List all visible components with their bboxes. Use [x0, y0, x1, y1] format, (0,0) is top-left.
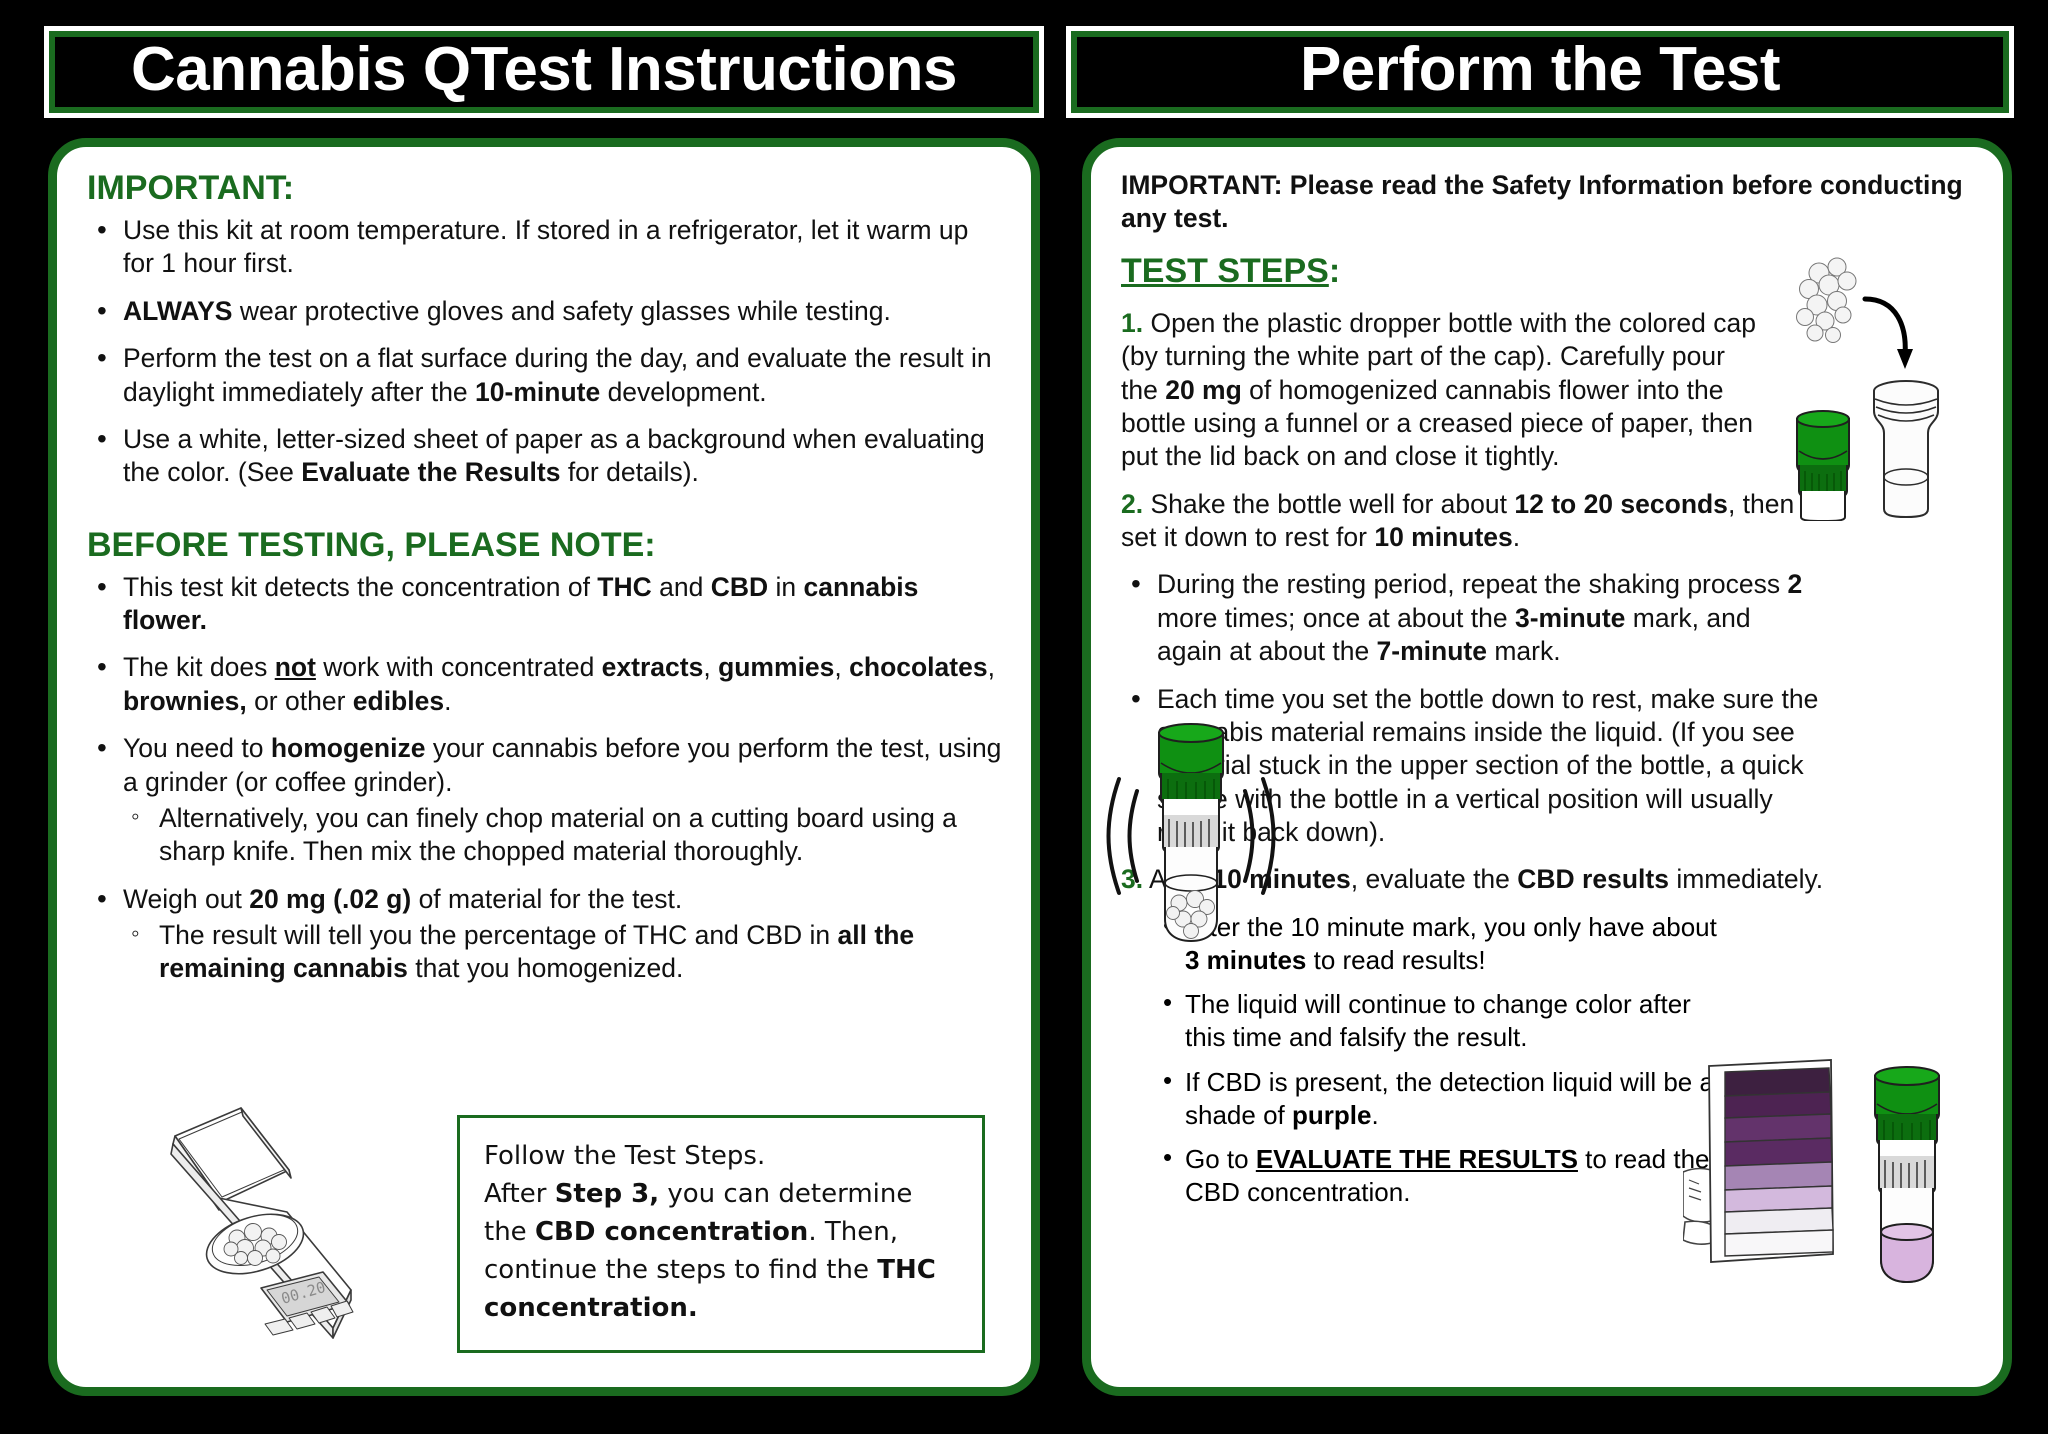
list-item: During the resting period, repeat the sh…: [1121, 568, 1821, 668]
header-banner-right: Perform the Test: [1066, 26, 2014, 118]
right-panel-body: IMPORTANT: Please read the Safety Inform…: [1091, 147, 2003, 1387]
list-item: This test kit detects the concentration …: [87, 571, 1005, 638]
list-item: Use this kit at room temperature. If sto…: [87, 214, 1005, 281]
header-banner-left: Cannabis QTest Instructions: [44, 26, 1044, 118]
step-2-number: 2.: [1121, 489, 1143, 519]
before-testing-bullet-list: This test kit detects the concentration …: [87, 571, 1005, 986]
list-item: The result will tell you the percentage …: [123, 919, 1005, 986]
right-panel: IMPORTANT: Please read the Safety Inform…: [1082, 138, 2012, 1396]
page-title-right: Perform the Test: [1300, 39, 1780, 105]
important-heading: IMPORTANT:: [87, 169, 1005, 208]
banner-green-frame-right: Perform the Test: [1071, 31, 2009, 113]
list-item: If CBD is present, the detection liquid …: [1157, 1066, 1717, 1132]
banner-inner-right: Perform the Test: [1077, 37, 2003, 107]
banner-green-frame: Cannabis QTest Instructions: [49, 31, 1039, 113]
test-steps-heading: TEST STEPS: [1121, 252, 1329, 291]
safety-notice: IMPORTANT: Please read the Safety Inform…: [1121, 169, 1971, 236]
callout-line-1: Follow the Test Steps.: [484, 1141, 765, 1171]
list-item: Alternatively, you can finely chop mater…: [123, 802, 1005, 869]
left-panel-body: IMPORTANT: Use this kit at room temperat…: [57, 147, 1031, 1387]
sub-bullet-list: The result will tell you the percentage …: [123, 919, 1005, 986]
list-item: Go to EVALUATE THE RESULTS to read the C…: [1157, 1143, 1717, 1209]
page-title-left: Cannabis QTest Instructions: [131, 39, 957, 105]
test-steps-colon: :: [1329, 252, 1340, 290]
color-chart-illustration: [1683, 1056, 1983, 1331]
important-bullet-list: Use this kit at room temperature. If sto…: [87, 214, 1005, 490]
before-testing-heading: BEFORE TESTING, PLEASE NOTE:: [87, 526, 1005, 565]
list-item: Weigh out 20 mg (.02 g) of material for …: [87, 883, 1005, 986]
left-panel: IMPORTANT: Use this kit at room temperat…: [48, 138, 1040, 1396]
banner-inner-left: Cannabis QTest Instructions: [55, 37, 1033, 107]
follow-test-steps-callout: Follow the Test Steps. After Step 3, you…: [457, 1115, 985, 1353]
sub-bullet-list: Alternatively, you can finely chop mater…: [123, 802, 1005, 869]
list-item: You need to homogenize your cannabis bef…: [87, 732, 1005, 869]
pour-sample-illustration: [1789, 251, 1989, 526]
callout-line-2: After Step 3, you can determine the CBD …: [484, 1179, 936, 1323]
step-2: 2. Shake the bottle well for about 12 to…: [1121, 488, 1811, 555]
step-1-text: Open the plastic dropper bottle with the…: [1121, 308, 1756, 472]
list-item: Perform the test on a flat surface durin…: [87, 342, 1005, 409]
list-item: Use a white, letter-sized sheet of paper…: [87, 423, 1005, 490]
digital-scale-illustration: 00.20: [137, 1092, 399, 1369]
step-1: 1. Open the plastic dropper bottle with …: [1121, 307, 1761, 474]
step-1-number: 1.: [1121, 308, 1143, 338]
step-2-text: Shake the bottle well for about 12 to 20…: [1121, 489, 1794, 552]
instruction-sheet: Cannabis QTest Instructions Perform the …: [0, 0, 2048, 1434]
shake-bottle-illustration: [1095, 707, 1285, 962]
section-spacer: [87, 504, 1005, 526]
list-item: The liquid will continue to change color…: [1157, 988, 1717, 1054]
list-item: The kit does not work with concentrated …: [87, 651, 1005, 718]
list-item: ALWAYS wear protective gloves and safety…: [87, 295, 1005, 328]
